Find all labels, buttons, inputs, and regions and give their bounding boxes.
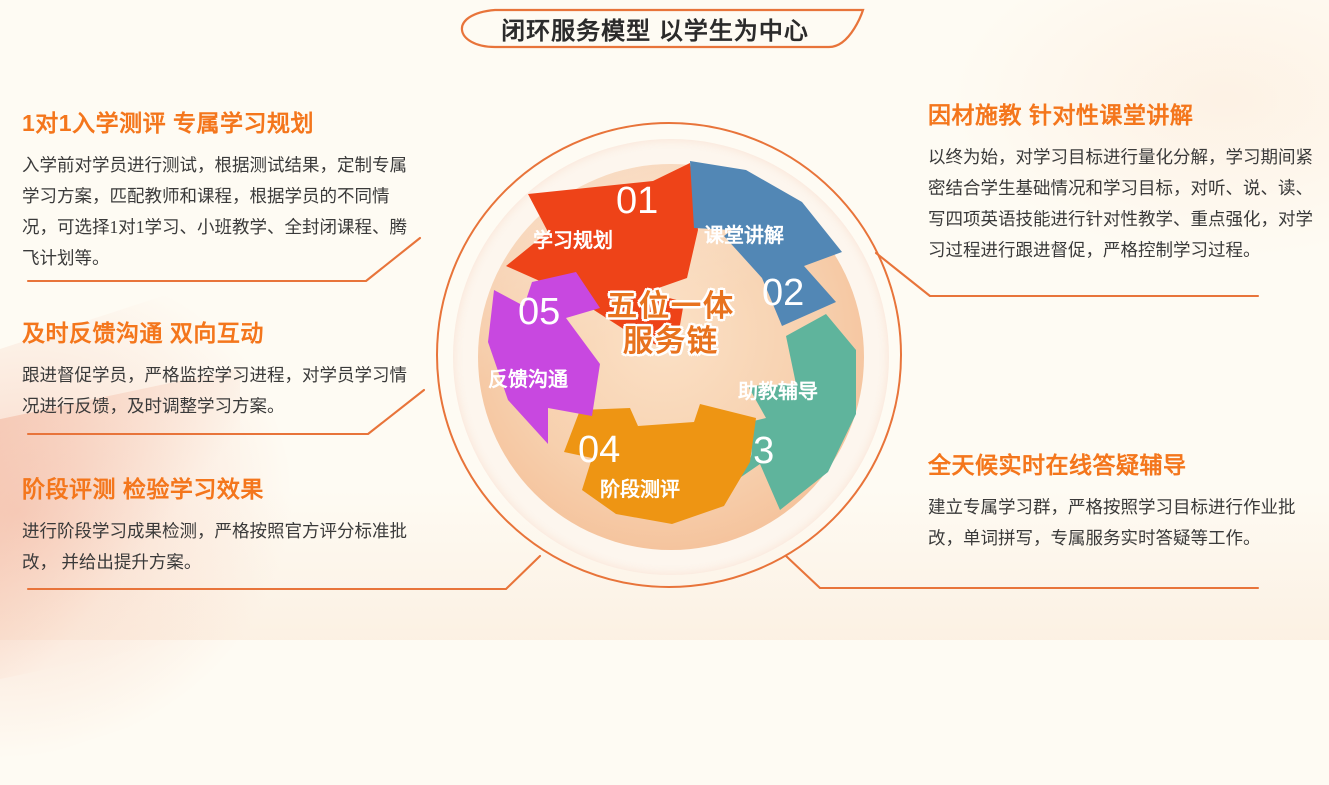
info-block-3-heading: 阶段评测 检验学习效果 (22, 470, 422, 504)
info-block-1: 1对1入学测评 专属学习规划 入学前对学员进行测试，根据测试结果，定制专属学习方… (22, 104, 422, 275)
cycle-label-03: 助教辅导 (738, 379, 818, 403)
header-title: 闭环服务模型 以学生为中心 (439, 6, 871, 50)
service-cycle-diagram: 01 学习规划 课堂讲解 02 助教辅导 03 04 阶段测评 05 反馈沟通 (432, 118, 910, 596)
info-block-2: 及时反馈沟通 双向互动 跟进督促学员，严格监控学习进程，对学员学习情况进行反馈，… (22, 314, 422, 422)
center-label: 五位一体 服务链 (586, 290, 756, 360)
center-label-line1: 五位一体 (586, 290, 756, 325)
info-block-1-heading: 1对1入学测评 专属学习规划 (22, 104, 422, 138)
info-block-4: 因材施教 针对性课堂讲解 以终为始，对学习目标进行量化分解，学习期间紧密结合学生… (928, 96, 1326, 267)
info-block-2-heading: 及时反馈沟通 双向互动 (22, 314, 422, 348)
info-block-5: 全天候实时在线答疑辅导 建立专属学习群，严格按照学习目标进行作业批改，单词拼写，… (928, 446, 1326, 554)
info-block-1-body: 入学前对学员进行测试，根据测试结果，定制专属学习方案，匹配教师和课程，根据学员的… (22, 150, 422, 275)
info-block-4-body: 以终为始，对学习目标进行量化分解，学习期间紧密结合学生基础情况和学习目标，对听、… (928, 142, 1326, 267)
cycle-number-04: 04 (578, 429, 620, 471)
info-block-3: 阶段评测 检验学习效果 进行阶段学习成果检测，严格按照官方评分标准批改， 并给出… (22, 470, 422, 578)
info-block-2-body: 跟进督促学员，严格监控学习进程，对学员学习情况进行反馈，及时调整学习方案。 (22, 360, 422, 422)
header-ribbon: 闭环服务模型 以学生为中心 (439, 6, 871, 50)
cycle-label-05: 反馈沟通 (488, 367, 568, 391)
cycle-segment-04[interactable]: 04 阶段测评 (564, 404, 756, 524)
center-label-line2: 服务链 (586, 325, 756, 360)
cycle-label-01: 学习规划 (533, 228, 613, 252)
cycle-number-05: 05 (518, 291, 560, 333)
info-block-5-heading: 全天候实时在线答疑辅导 (928, 446, 1326, 480)
cycle-number-01: 01 (616, 180, 658, 222)
cycle-number-02: 02 (762, 272, 804, 314)
info-block-4-heading: 因材施教 针对性课堂讲解 (928, 96, 1326, 130)
cycle-label-02: 课堂讲解 (704, 223, 784, 247)
cycle-label-04: 阶段测评 (600, 477, 680, 501)
info-block-3-body: 进行阶段学习成果检测，严格按照官方评分标准批改， 并给出提升方案。 (22, 516, 422, 578)
info-block-5-body: 建立专属学习群，严格按照学习目标进行作业批改，单词拼写，专属服务实时答疑等工作。 (928, 492, 1326, 554)
